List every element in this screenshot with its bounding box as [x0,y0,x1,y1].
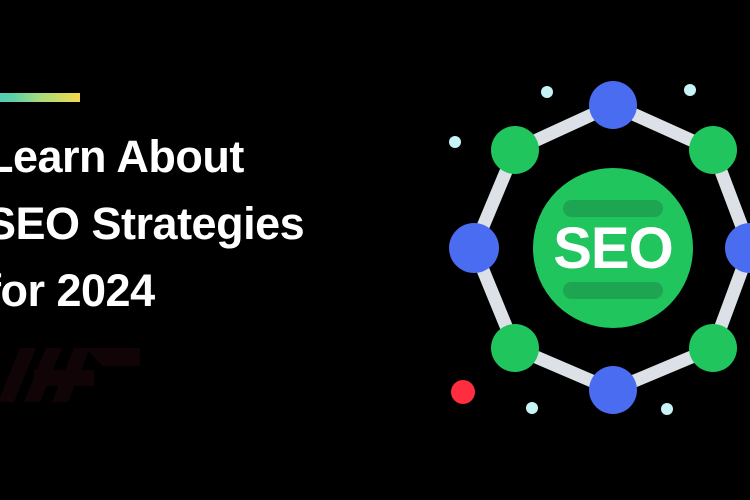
headline-line-2: SEO Strategies [0,190,446,257]
seo-center-badge: SEO [533,168,693,328]
faint-logo-watermark [0,340,160,410]
node-top-right [689,126,737,174]
dot-cyan-bottom-b [661,403,673,415]
seo-badge-bar-bottom [563,282,663,299]
seo-badge-bar-top [563,200,663,217]
page-title: Learn About SEO Strategies for 2024 [0,123,446,324]
node-bottom [589,366,637,414]
seo-banner: Learn About SEO Strategies for 2024 [0,0,750,500]
dot-cyan-top-center [541,86,553,98]
node-top-left [491,126,539,174]
headline-column: Learn About SEO Strategies for 2024 [0,0,430,500]
gradient-accent-bar [0,93,80,102]
headline-line-1: Learn About [0,123,446,190]
dot-cyan-mid-left [449,136,461,148]
node-left [449,223,499,273]
seo-network-svg: SEO [430,0,750,500]
dot-cyan-bottom-a [526,402,538,414]
seo-badge-label: SEO [553,216,673,281]
headline-line-3: for 2024 [0,257,446,324]
seo-network-diagram: SEO [430,0,750,500]
node-right [725,223,750,273]
node-bottom-left [491,324,539,372]
dot-cyan-top-right [684,84,696,96]
node-bottom-right [689,324,737,372]
dot-red-bottom-left [451,380,475,404]
node-top [589,81,637,129]
